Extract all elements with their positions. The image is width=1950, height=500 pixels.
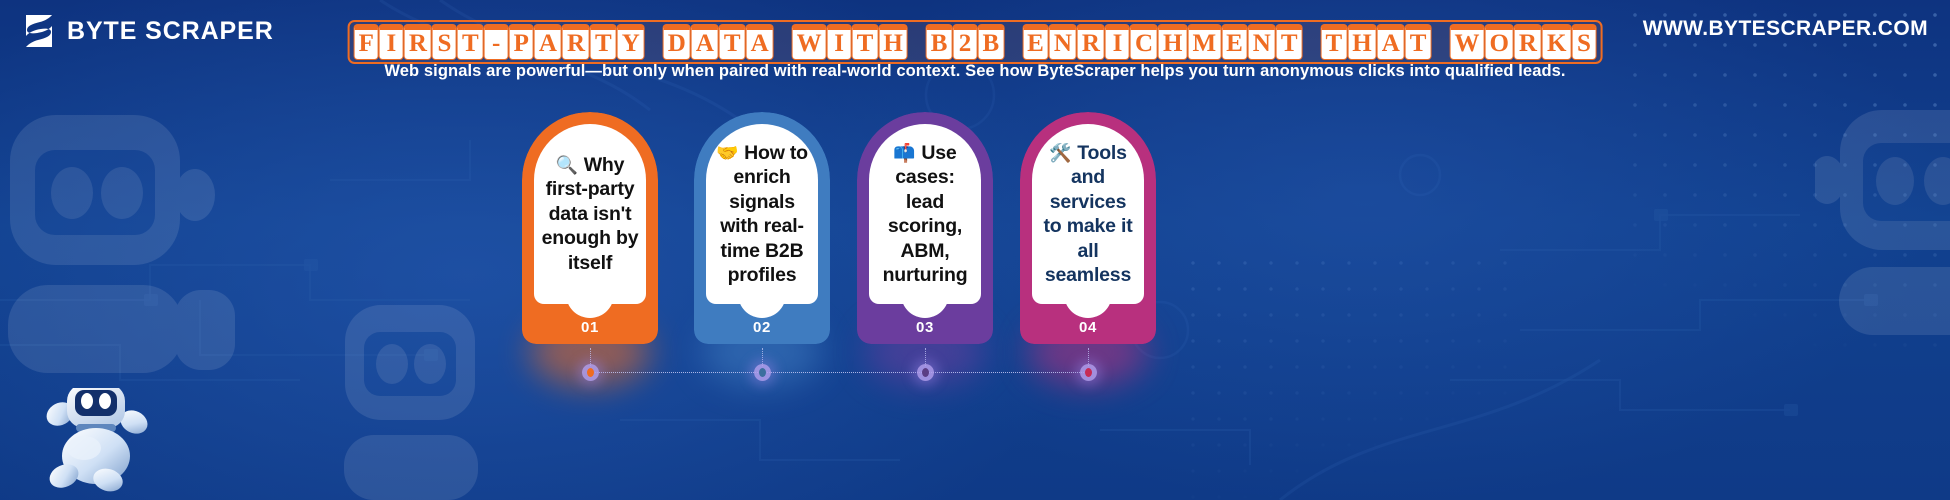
title-tile-a: A — [1378, 25, 1404, 59]
byte-scraper-logo-icon — [22, 12, 56, 50]
page-title: FIRST-PARTYDATAWITHB2BENRICHMENTTHATWORK… — [348, 20, 1603, 64]
title-tile-a: A — [747, 25, 773, 59]
card-panel: 🛠️ Tools and services to make it all sea… — [1032, 124, 1144, 304]
title-tile-r: R — [405, 25, 431, 59]
title-tile-r: R — [563, 25, 589, 59]
title-tile-i: I — [380, 25, 403, 59]
handshake-icon: 🤝 — [716, 143, 743, 163]
card-text: 🔍 Why first-party data isn't enough by i… — [541, 153, 639, 276]
card-03[interactable]: 📫 Use cases: lead scoring, ABM, nurturin… — [857, 112, 993, 344]
card-text: 📫 Use cases: lead scoring, ABM, nurturin… — [876, 141, 974, 288]
card-notch — [738, 292, 786, 318]
hammer-and-wrench-icon: 🛠️ — [1049, 143, 1076, 163]
title-tile-b: B — [927, 25, 952, 59]
title-tile-n: N — [1249, 25, 1275, 59]
title-tile-t: T — [1406, 25, 1431, 59]
title-tile-f: F — [355, 25, 378, 59]
title-tile-a: A — [535, 25, 561, 59]
title-tile-k: K — [1543, 25, 1570, 59]
card-panel: 🤝 How to enrich signals with real-time B… — [706, 124, 818, 304]
title-tile-t: T — [458, 25, 483, 59]
card-notch — [1064, 292, 1112, 318]
card-shell: 🤝 How to enrich signals with real-time B… — [694, 112, 830, 344]
card-number-badge: 03 — [857, 319, 993, 336]
title-tile-a: A — [692, 25, 718, 59]
card-text: 🤝 How to enrich signals with real-time B… — [713, 141, 811, 288]
title-tile-w: W — [793, 25, 826, 59]
card-number-badge: 04 — [1020, 319, 1156, 336]
title-tile-space — [775, 51, 791, 59]
page-subtitle: Web signals are powerful—but only when p… — [0, 62, 1950, 81]
title-tile-d: D — [664, 25, 690, 59]
title-tile-t: T — [1277, 25, 1302, 59]
title-tile-space — [909, 51, 925, 59]
title-tile-w: W — [1450, 25, 1483, 59]
mailbox-icon: 📫 — [893, 143, 920, 163]
card-02[interactable]: 🤝 How to enrich signals with real-time B… — [694, 112, 830, 344]
title-tile-n: N — [1050, 25, 1076, 59]
card-notch — [566, 292, 614, 318]
title-tile-h: H — [1159, 25, 1186, 59]
logo-block[interactable]: BYTE SCRAPER — [22, 12, 274, 50]
title-tile-t: T — [1322, 25, 1347, 59]
site-url[interactable]: WWW.BYTESCRAPER.COM — [1643, 17, 1928, 41]
title-tile-r: R — [1078, 25, 1104, 59]
card-text: 🛠️ Tools and services to make it all sea… — [1039, 141, 1137, 288]
title-tile-o: O — [1485, 25, 1512, 59]
title-tile-i: I — [1106, 25, 1129, 59]
title-tile-p: P — [510, 25, 533, 59]
title-tile-space — [1432, 51, 1448, 59]
title-tile-b: B — [978, 25, 1003, 59]
title-tile-space — [646, 51, 662, 59]
card-01[interactable]: 🔍 Why first-party data isn't enough by i… — [522, 112, 658, 344]
title-tile-y: Y — [618, 25, 644, 59]
card-notch — [901, 292, 949, 318]
robot-mascot — [34, 388, 154, 500]
title-tile-space — [1005, 51, 1021, 59]
card-shell: 🔍 Why first-party data isn't enough by i… — [522, 112, 658, 344]
title-tile-s: S — [433, 25, 456, 59]
title-tile-c: C — [1131, 25, 1157, 59]
title-tile-e: E — [1023, 25, 1048, 59]
card-panel: 🔍 Why first-party data isn't enough by i… — [534, 124, 646, 304]
title-tile-t: T — [853, 25, 878, 59]
card-04[interactable]: 🛠️ Tools and services to make it all sea… — [1020, 112, 1156, 344]
title-tile-m: M — [1189, 25, 1221, 59]
title-tile-i: I — [828, 25, 851, 59]
title-tile-2: 2 — [953, 25, 976, 59]
magnifying-glass-icon: 🔍 — [556, 155, 583, 175]
title-tile-t: T — [720, 25, 745, 59]
card-shell: 📫 Use cases: lead scoring, ABM, nurturin… — [857, 112, 993, 344]
title-tile-s: S — [1572, 25, 1595, 59]
title-tile-h: H — [1348, 25, 1375, 59]
header-bar: BYTE SCRAPER FIRST-PARTYDATAWITHB2BENRIC… — [0, 0, 1950, 62]
title-tile--: - — [485, 25, 508, 59]
card-row: 🔍 Why first-party data isn't enough by i… — [0, 112, 1950, 392]
logo-text: BYTE SCRAPER — [67, 17, 274, 46]
title-tile-space — [1304, 51, 1320, 59]
title-tile-e: E — [1222, 25, 1247, 59]
card-panel: 📫 Use cases: lead scoring, ABM, nurturin… — [869, 124, 981, 304]
card-number-badge: 01 — [522, 319, 658, 336]
card-number-badge: 02 — [694, 319, 830, 336]
title-tile-r: R — [1515, 25, 1541, 59]
title-tile-t: T — [591, 25, 616, 59]
card-shell: 🛠️ Tools and services to make it all sea… — [1020, 112, 1156, 344]
title-tile-h: H — [879, 25, 906, 59]
